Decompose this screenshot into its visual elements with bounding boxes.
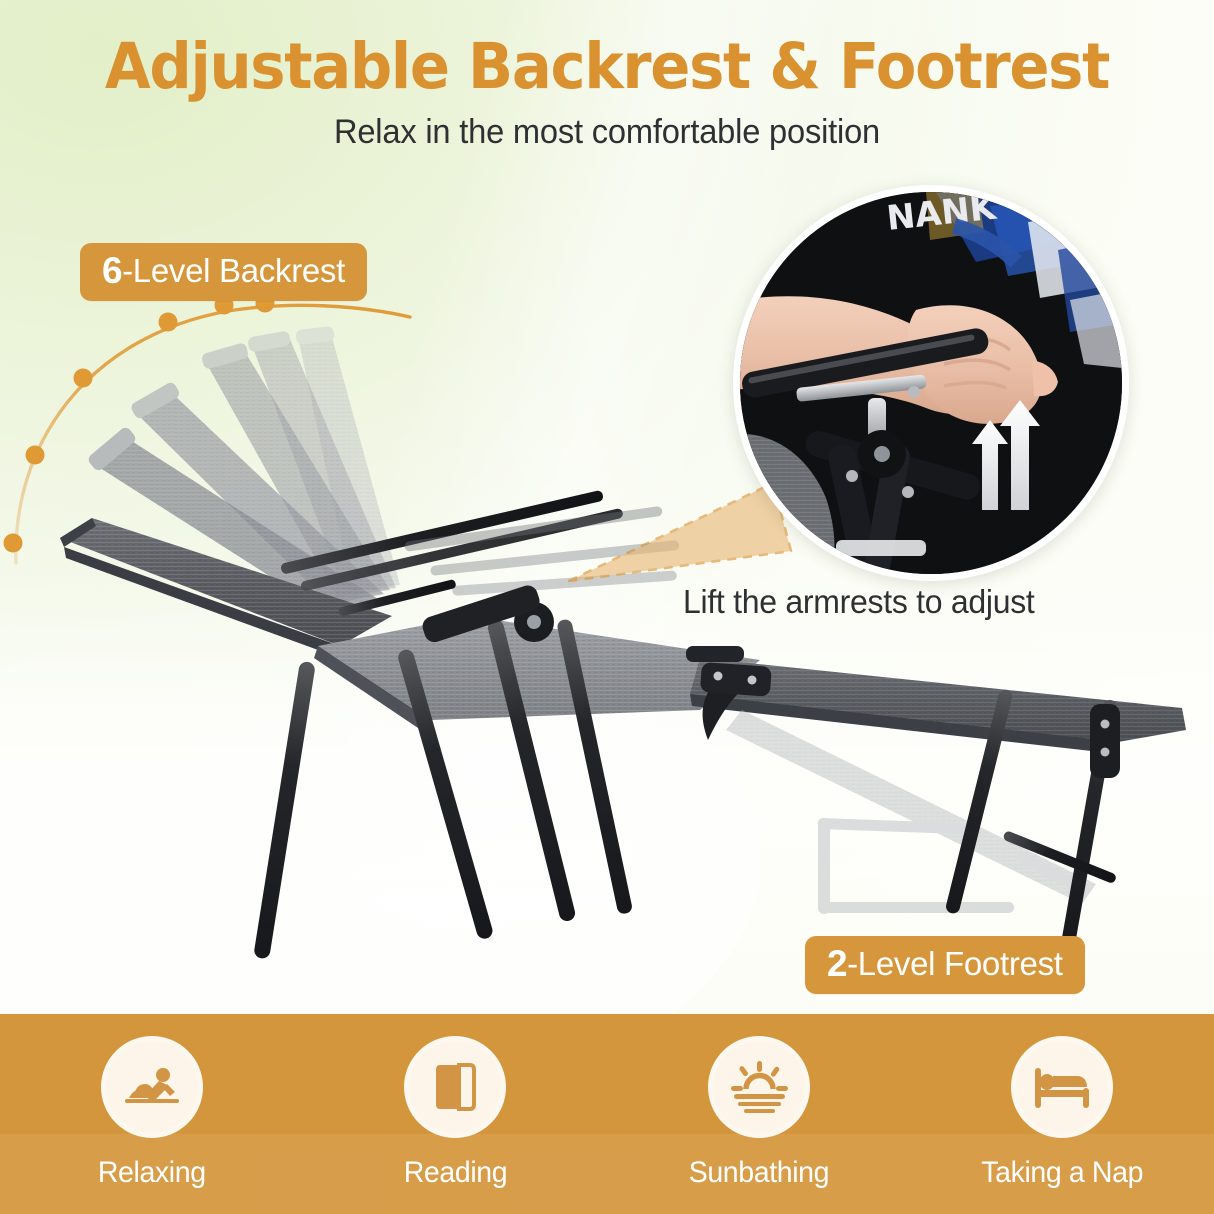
feature-taking-a-nap[interactable]: Taking a Nap: [911, 1014, 1214, 1214]
page-title: Adjustable Backrest & Footrest: [36, 0, 1177, 101]
callout-label: Lift the armrests to adjust: [683, 583, 1149, 621]
sun-horizon-icon: [708, 1036, 810, 1138]
feature-bar: Relaxing Reading: [0, 1014, 1214, 1214]
feature-relaxing[interactable]: Relaxing: [0, 1014, 304, 1214]
feature-list: Relaxing Reading: [0, 1014, 1214, 1214]
armrest-photo-circle: NANK: [733, 185, 1129, 581]
page-subtitle: Relax in the most comfortable position: [24, 101, 1189, 152]
feature-label-sunbathing: Sunbathing: [689, 1156, 829, 1190]
bed-glyph: [1033, 1064, 1091, 1110]
feature-reading[interactable]: Reading: [304, 1014, 608, 1214]
feature-label-nap: Taking a Nap: [981, 1156, 1143, 1190]
header: Adjustable Backrest & Footrest Relax in …: [0, 0, 1214, 152]
person-reclining-icon: [101, 1036, 203, 1138]
feature-label-reading: Reading: [403, 1156, 507, 1190]
feature-sunbathing[interactable]: Sunbathing: [607, 1014, 911, 1214]
badge-6-level-backrest: 6 -Level Backrest: [80, 243, 367, 301]
badge-2-level-footrest: 2 -Level Footrest: [805, 936, 1085, 994]
bed-icon: [1011, 1036, 1113, 1138]
badge-backrest-text: -Level Backrest: [122, 254, 345, 287]
open-book-glyph: [432, 1061, 478, 1113]
armrest-photo: NANK: [740, 192, 1122, 574]
product-feature-infographic: Adjustable Backrest & Footrest Relax in …: [0, 0, 1214, 1214]
badge-backrest-number: 6: [102, 252, 122, 289]
open-book-icon: [404, 1036, 506, 1138]
badge-footrest-number: 2: [827, 945, 847, 982]
person-reclining-glyph: [123, 1064, 181, 1110]
feature-label-relaxing: Relaxing: [98, 1156, 206, 1190]
badge-footrest-text: -Level Footrest: [847, 947, 1063, 980]
sun-horizon-glyph: [730, 1061, 788, 1113]
